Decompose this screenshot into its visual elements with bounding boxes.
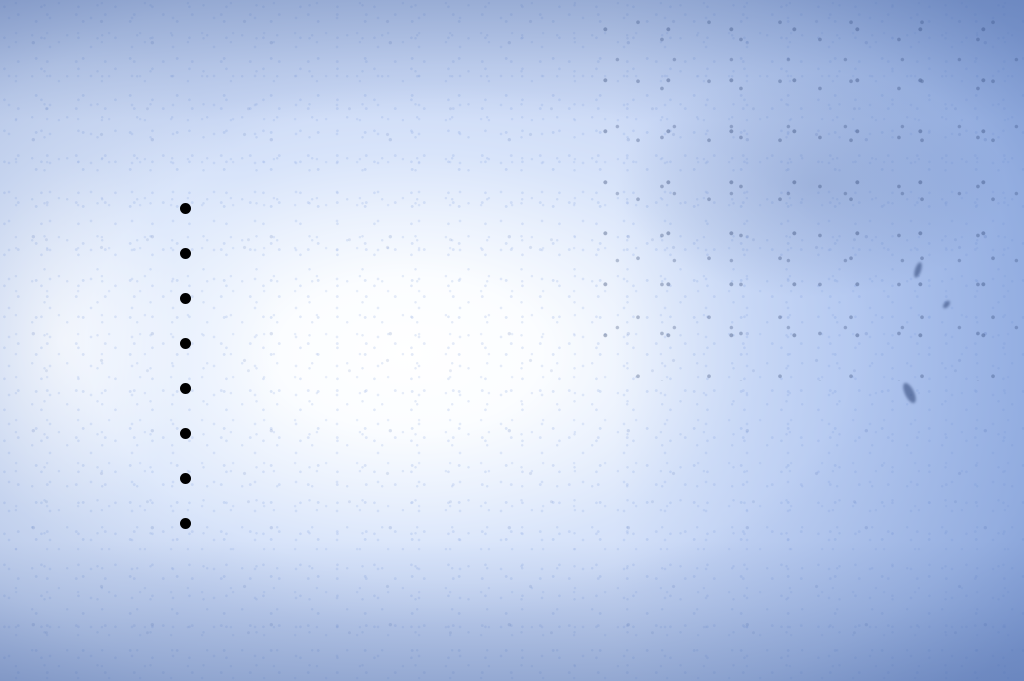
- list-item: [180, 276, 230, 321]
- list-item: [180, 456, 230, 501]
- list-item: [180, 411, 230, 456]
- list-item: [180, 231, 230, 276]
- list-item: [180, 321, 230, 366]
- bullet-icon: [180, 473, 191, 484]
- bullet-icon: [180, 293, 191, 304]
- baseball-registration-poster: [0, 0, 1024, 681]
- list-item: [180, 366, 230, 411]
- list-item: [180, 186, 230, 231]
- bullet-icon: [180, 518, 191, 529]
- poster-text-overlay: [0, 0, 1024, 681]
- bullet-icon: [180, 383, 191, 394]
- bullet-icon: [180, 428, 191, 439]
- bullet-icon: [180, 248, 191, 259]
- list-item: [180, 501, 230, 546]
- bullet-icon: [180, 338, 191, 349]
- registration-details-list: [180, 186, 230, 546]
- bullet-icon: [180, 203, 191, 214]
